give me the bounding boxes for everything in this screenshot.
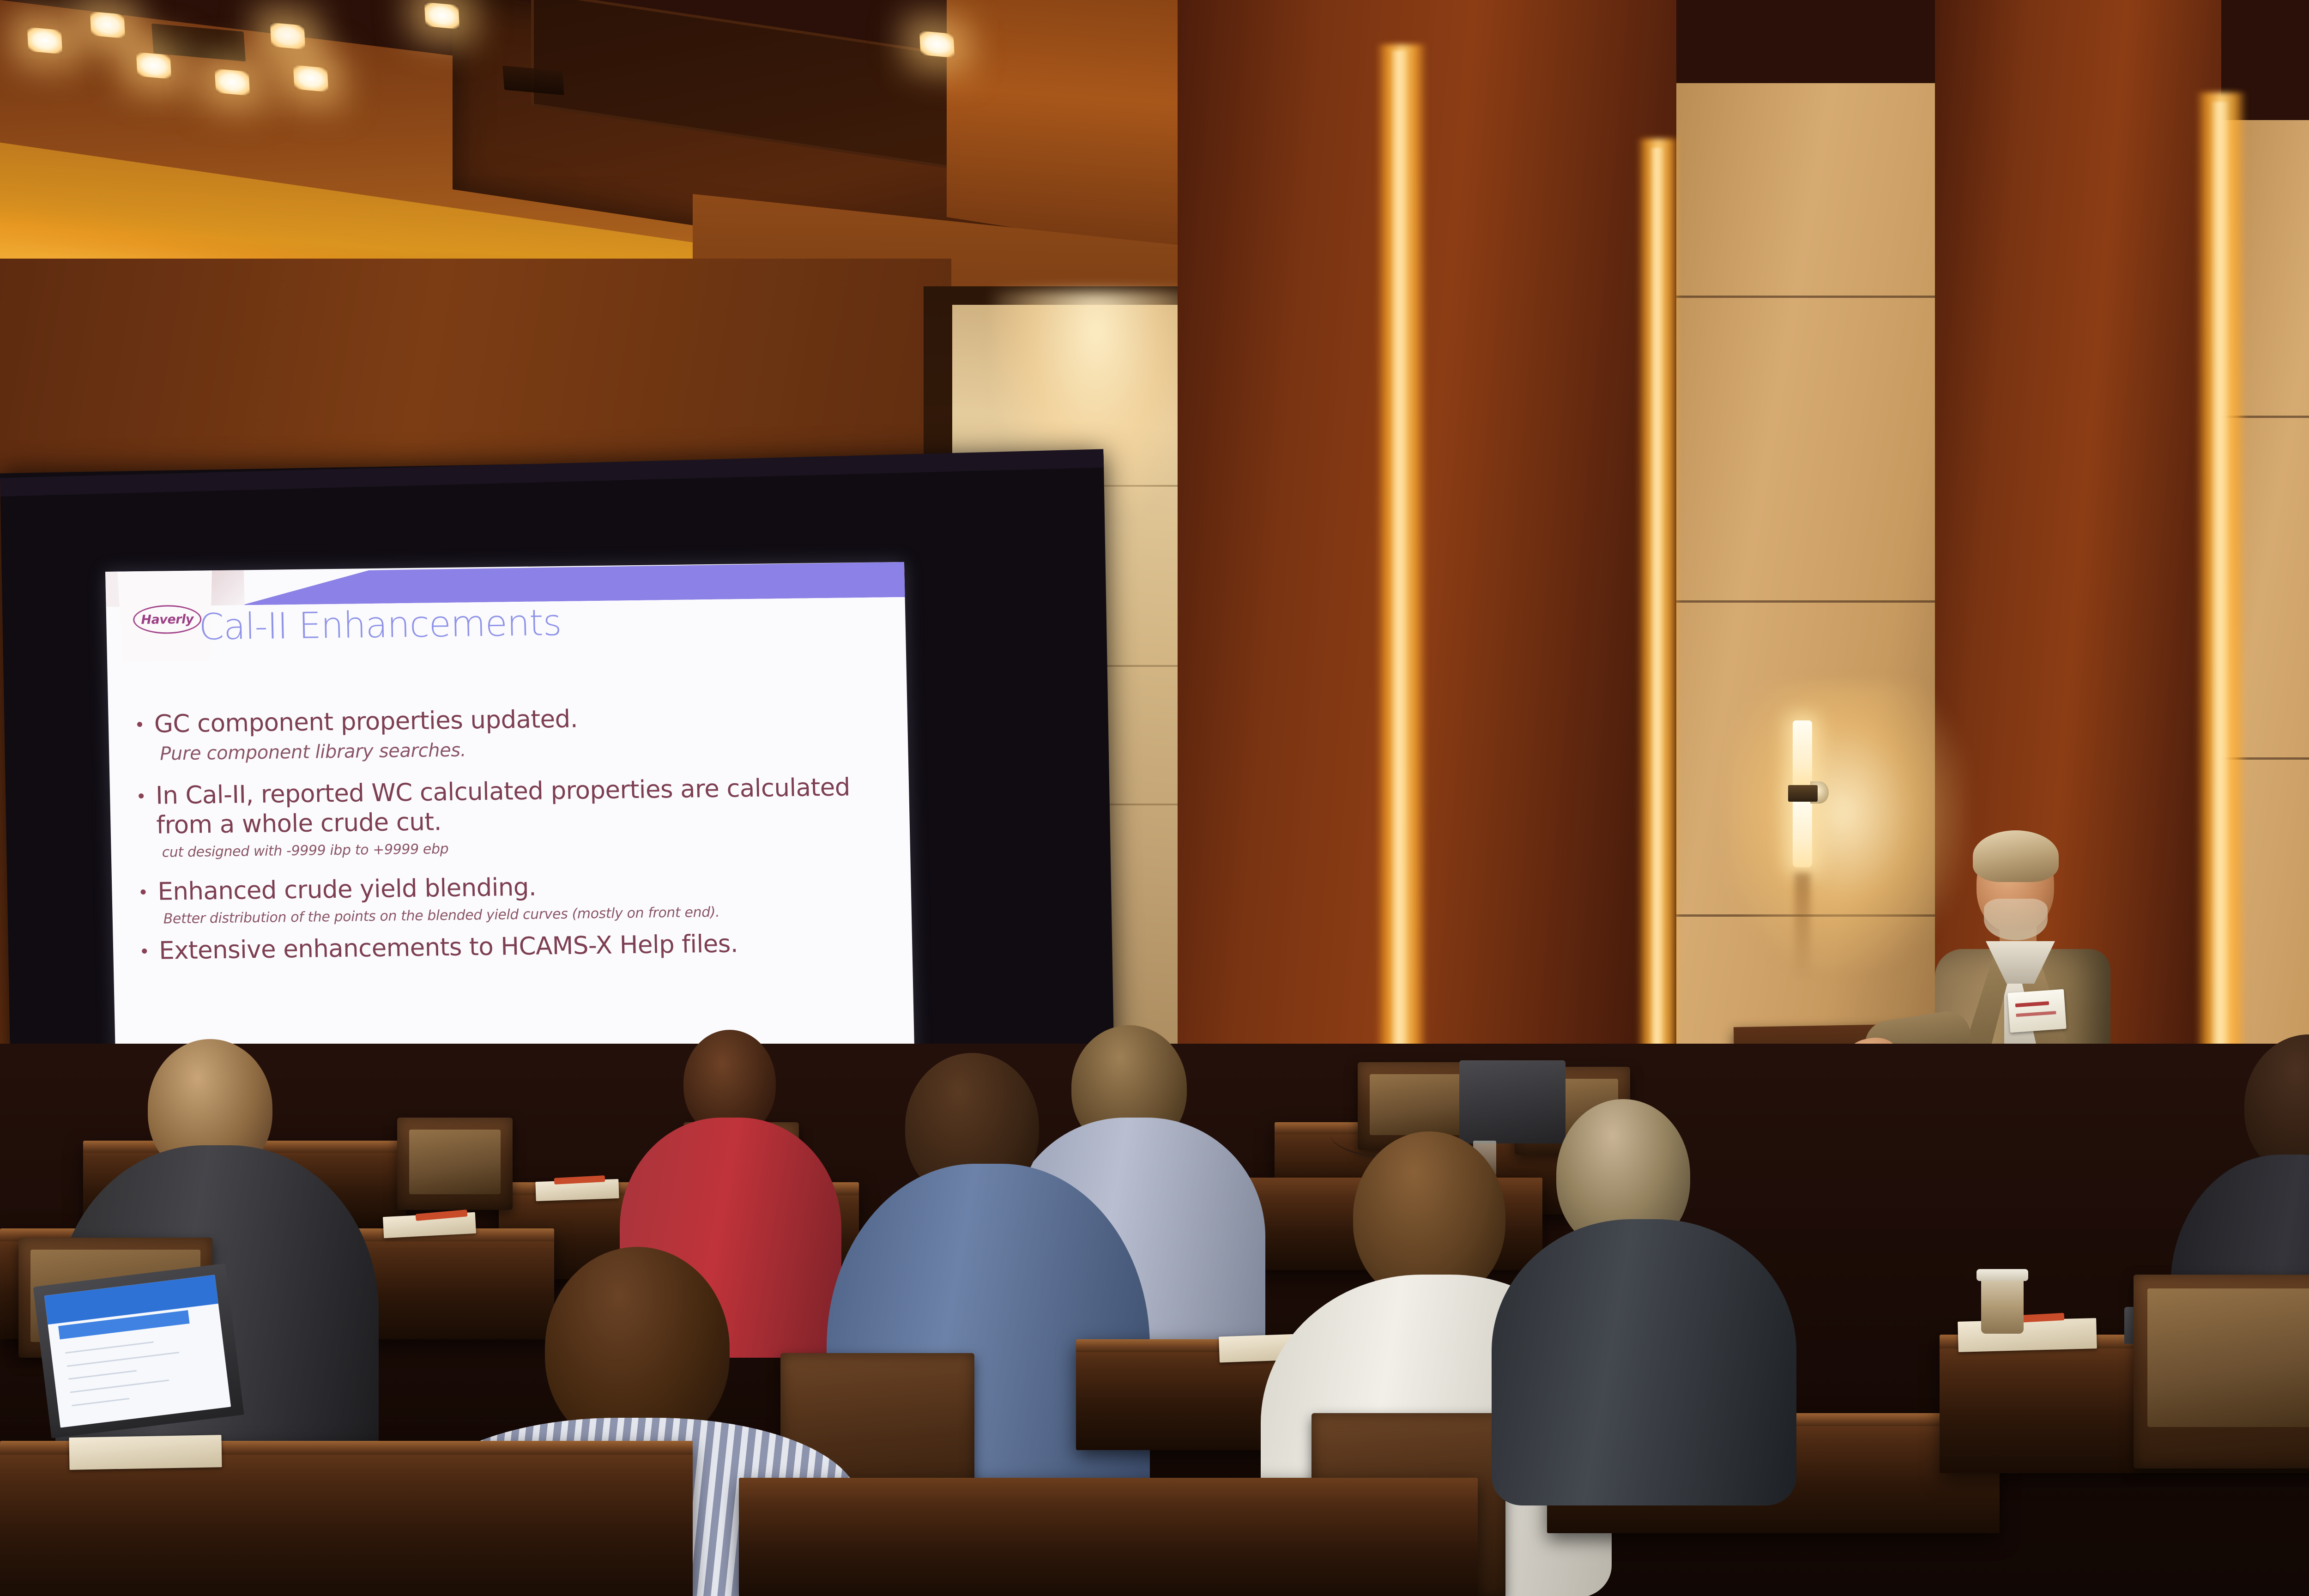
slide-bullet: Extensive enhancements to HCAMS-X Help f…	[142, 928, 863, 967]
laptop-text-line	[65, 1341, 154, 1354]
bullet-dot-icon	[140, 889, 145, 895]
laptop-computer[interactable]	[1459, 1060, 1566, 1143]
bullet-dot-icon	[139, 793, 144, 798]
laptop-text-line	[66, 1352, 179, 1367]
chair-cushion	[2147, 1288, 2309, 1427]
slide-bullet-text: GC component properties updated.	[154, 705, 578, 740]
ceiling-downlight	[424, 2, 460, 30]
wall-seam	[1676, 600, 1935, 603]
coffee-cup-lid	[1977, 1269, 2028, 1281]
ceiling-downlight	[90, 12, 126, 39]
chair-cushion	[409, 1130, 501, 1194]
presenter-name-badge	[2007, 989, 2067, 1033]
table-row	[739, 1478, 1478, 1596]
conference-room-photo: Haverly Cal-II Enhancements GC component…	[0, 0, 2309, 1596]
wall-accent-light-core	[1650, 148, 1664, 1081]
wall-accent-light-core	[2210, 102, 2230, 1150]
wall-sconce-glow	[1727, 683, 1967, 970]
slide-bullet: GC component properties updated.	[137, 701, 858, 740]
wall-seam	[1676, 296, 1935, 298]
slide-bullet-subtext: Pure component library searches.	[160, 735, 858, 764]
coffee-cup[interactable]	[1981, 1275, 2024, 1334]
wall-sconce-upper-tube	[1793, 720, 1812, 790]
slide-bullet-list: GC component properties updated. Pure co…	[137, 701, 863, 968]
ceiling-downlight	[919, 31, 955, 58]
handout-paper[interactable]	[69, 1435, 222, 1470]
wall-sconce-lower-tube	[1793, 798, 1812, 867]
slide-bullet-subtext: cut designed with -9999 ibp to +9999 ebp	[162, 836, 860, 860]
logo-text: Haverly	[133, 605, 202, 634]
bullet-dot-icon	[137, 722, 142, 727]
laptop-screen	[44, 1275, 231, 1427]
wall-panel-mahogany	[1178, 0, 1676, 1108]
laptop-text-line	[72, 1398, 130, 1406]
badge-name-line	[2015, 1001, 2049, 1007]
badge-org-line	[2016, 1011, 2056, 1017]
wall-sconce-bracket	[1788, 785, 1818, 802]
wall-accent-light-core	[1390, 51, 1408, 1094]
slide-bullet: Enhanced crude yield blending.	[140, 869, 861, 907]
haverly-logo: Haverly	[133, 605, 202, 634]
bullet-dot-icon	[142, 949, 147, 954]
audience-torso	[1492, 1219, 1796, 1505]
notepad[interactable]	[1958, 1318, 2097, 1352]
wall-sconce-shadow	[1795, 873, 1810, 979]
ceiling-downlight	[27, 27, 63, 54]
slide-bullet-text: Enhanced crude yield blending.	[157, 873, 537, 907]
presenter-hair	[1973, 830, 2059, 882]
slide-bullet-subtext: Better distribution of the points on the…	[163, 902, 862, 927]
slide-bullet-text: In Cal-II, reported WC calculated proper…	[156, 773, 860, 841]
ceiling-downlight	[293, 65, 329, 92]
laptop-text-line	[68, 1370, 137, 1380]
laptop-text-line	[70, 1379, 169, 1393]
presentation-slide: Haverly Cal-II Enhancements GC component…	[105, 562, 914, 1066]
slide-bullet: In Cal-II, reported WC calculated proper…	[139, 773, 860, 841]
ceiling-downlight	[270, 23, 306, 50]
ceiling-downlight	[215, 69, 250, 96]
slide-title: Cal-II Enhancements	[199, 602, 562, 648]
ceiling-downlight	[136, 52, 172, 79]
slide-bullet-text: Extensive enhancements to HCAMS-X Help f…	[159, 929, 738, 966]
presenter-beard	[1984, 899, 2048, 940]
